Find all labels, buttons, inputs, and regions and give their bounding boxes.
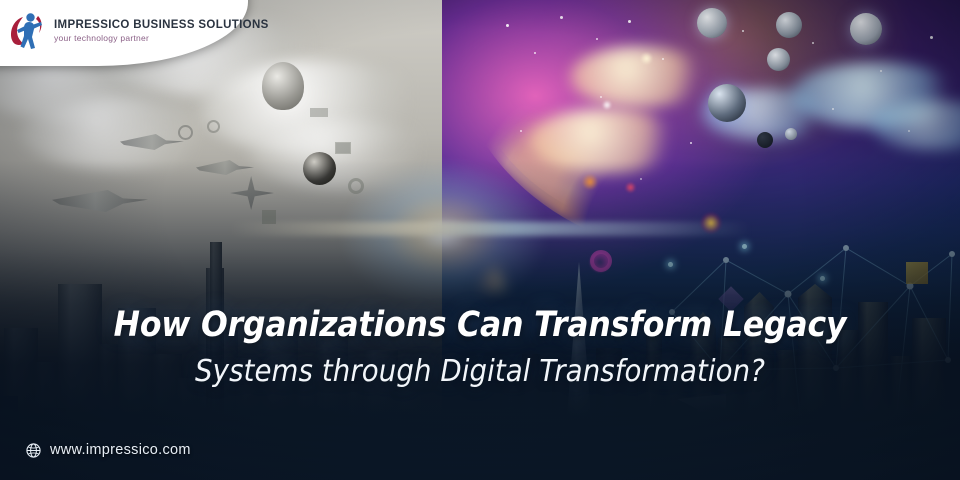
vignette-overlay — [0, 0, 960, 480]
globe-icon — [26, 443, 41, 458]
logo-company-name: IMPRESSICO BUSINESS SOLUTIONS — [54, 20, 269, 32]
headline-line-2: Systems through Digital Transformation? — [38, 354, 921, 390]
footer-website[interactable]: www.impressico.com — [26, 442, 191, 458]
headline-line-1: How Organizations Can Transform Legacy — [48, 306, 912, 345]
headline-block: How Organizations Can Transform Legacy S… — [0, 306, 960, 390]
website-url: www.impressico.com — [50, 442, 191, 458]
logo-text-block: IMPRESSICO BUSINESS SOLUTIONS your techn… — [54, 20, 269, 43]
running-figure-icon — [8, 10, 48, 52]
hero-banner: IMPRESSICO BUSINESS SOLUTIONS your techn… — [0, 0, 960, 480]
logo-tagline: your technology partner — [54, 34, 269, 43]
logo-content: IMPRESSICO BUSINESS SOLUTIONS your techn… — [8, 10, 269, 52]
